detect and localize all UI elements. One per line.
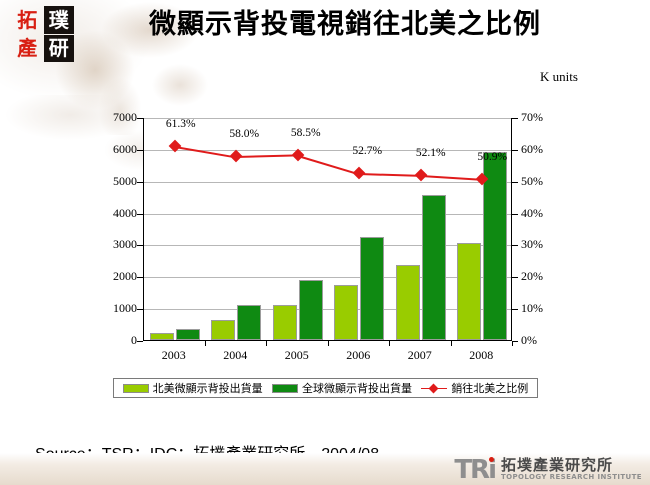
tri-red-dot [489,457,494,462]
footer-bar: TRi 拓墣產業研究所 TOPOLOGY RESEARCH INSTITUTE [0,453,650,485]
x-axis-tick [266,341,267,346]
ratio-data-label: 58.5% [291,127,321,139]
tri-footer-logo: TRi 拓墣產業研究所 TOPOLOGY RESEARCH INSTITUTE [454,458,642,481]
y-axis-left-tick [137,214,143,215]
gridline [144,277,511,278]
y-axis-left-tick-label: 7000 [93,110,137,125]
y-axis-right-tick-label: 70% [521,110,565,125]
gridline [144,182,511,183]
legend-line-marker-ratio [421,384,447,393]
chart-legend: 北美微顯示背投出貨量 全球微顯示背投出貨量 銷往北美之比例 [113,378,538,398]
y-axis-left-tick [137,309,143,310]
units-label: K units [540,69,578,85]
y-axis-right-tick-label: 60% [521,142,565,157]
bar-global-shipments [360,237,384,340]
ratio-line-segment [175,146,237,158]
gridline [144,245,511,246]
x-axis-tick [328,341,329,346]
y-axis-right-tick [512,245,518,246]
ratio-data-point [230,150,243,163]
y-axis-left-tick [137,118,143,119]
y-axis-left-tick-label: 5000 [93,174,137,189]
bar-na-shipments [396,265,420,340]
y-axis-right-tick-label: 40% [521,206,565,221]
bar-na-shipments [211,320,235,340]
bar-global-shipments [176,329,200,340]
y-axis-right-tick-label: 30% [521,237,565,252]
y-axis-right-tick-label: 50% [521,174,565,189]
ratio-line-segment [298,155,360,175]
x-axis-tick [205,341,206,346]
y-axis-left-tick-label: 6000 [93,142,137,157]
ratio-data-label: 52.1% [416,147,446,159]
x-axis-label: 2003 [144,348,204,363]
bar-global-shipments [422,195,446,340]
tri-name-en: TOPOLOGY RESEARCH INSTITUTE [501,474,642,481]
y-axis-right-tick-label: 0% [521,333,565,348]
x-axis-tick [512,341,513,346]
ratio-data-label: 61.3% [166,118,196,130]
y-axis-left-tick-label: 1000 [93,301,137,316]
legend-swatch-na [123,384,149,393]
x-axis-label: 2004 [205,348,265,363]
y-axis-right-tick [512,182,518,183]
bar-global-shipments [299,280,323,340]
legend-item-global-shipments: 全球微顯示背投出貨量 [272,380,412,396]
tri-name-block: 拓墣產業研究所 TOPOLOGY RESEARCH INSTITUTE [501,458,642,481]
legend-item-na-shipments: 北美微顯示背投出貨量 [123,380,263,396]
gridline [144,214,511,215]
tri-name-cn: 拓墣產業研究所 [501,458,642,473]
x-axis-label: 2007 [390,348,450,363]
y-axis-left-tick-label: 3000 [93,237,137,252]
page-title: 微顯示背投電視銷往北美之比例 [0,2,650,41]
y-axis-right-tick [512,309,518,310]
legend-swatch-global [272,384,298,393]
chart-container: 61.3%58.0%58.5%52.7%52.1%50.9% 010002000… [0,100,650,380]
bar-na-shipments [457,243,481,340]
x-axis-label: 2008 [451,348,511,363]
legend-label-na: 北美微顯示背投出貨量 [153,380,263,396]
ratio-data-label: 52.7% [352,145,382,157]
y-axis-left-tick [137,341,143,342]
y-axis-left-tick-label: 2000 [93,269,137,284]
y-axis-left-tick-label: 4000 [93,206,137,221]
bar-na-shipments [334,285,358,340]
y-axis-right-tick [512,118,518,119]
y-axis-left-tick-label: 0 [93,333,137,348]
legend-label-global: 全球微顯示背投出貨量 [302,380,412,396]
bar-na-shipments [150,333,174,340]
tri-wordmark: TRi [454,459,495,481]
ratio-data-point [414,169,427,182]
legend-item-na-ratio: 銷往北美之比例 [421,380,528,396]
legend-label-ratio: 銷往北美之比例 [451,380,528,396]
ratio-data-label: 58.0% [229,128,259,140]
bar-na-shipments [273,305,297,340]
ratio-line-segment [359,173,421,177]
y-axis-left-tick [137,150,143,151]
y-axis-right-tick [512,277,518,278]
y-axis-right-tick [512,150,518,151]
ratio-line-segment [421,175,483,180]
x-axis-tick [389,341,390,346]
plot-area: 61.3%58.0%58.5%52.7%52.1%50.9% [143,118,512,341]
y-axis-left-tick [137,182,143,183]
y-axis-right-tick-label: 10% [521,301,565,316]
bar-global-shipments [237,305,261,340]
ratio-data-label: 50.9% [477,151,507,163]
ratio-data-point [353,167,366,180]
y-axis-left-tick [137,277,143,278]
y-axis-right-tick [512,214,518,215]
y-axis-left-tick [137,245,143,246]
gridline [144,309,511,310]
x-axis-label: 2006 [328,348,388,363]
x-axis-label: 2005 [267,348,327,363]
gridline [144,118,511,119]
y-axis-right-tick-label: 20% [521,269,565,284]
x-axis-tick [451,341,452,346]
ratio-line-segment [236,155,298,158]
